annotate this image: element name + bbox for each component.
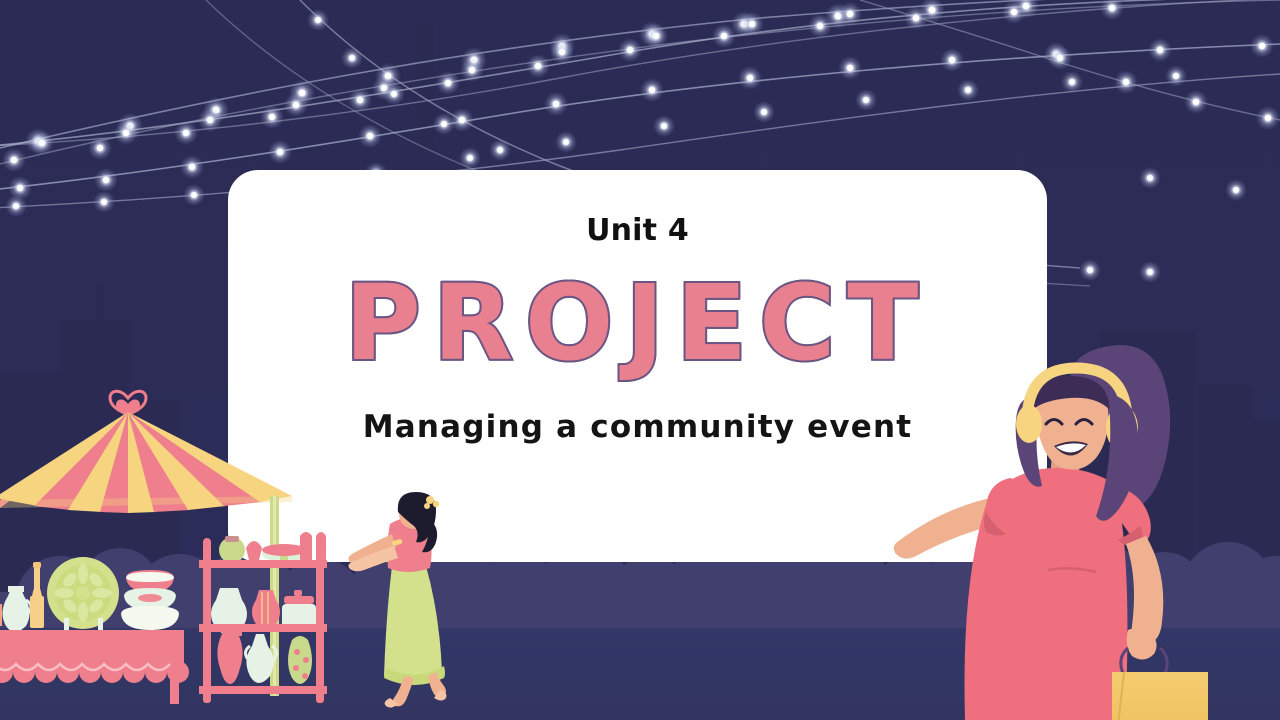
page-title: PROJECT <box>345 271 931 375</box>
unit-label: Unit 4 <box>586 216 689 246</box>
page-subtitle: Managing a community event <box>363 412 913 443</box>
title-card: Unit 4 PROJECT Managing a community even… <box>228 170 1047 562</box>
project-title-wrap: PROJECT <box>345 268 931 378</box>
ground <box>0 628 1280 720</box>
slide-canvas: Unit 4 PROJECT Managing a community even… <box>0 0 1280 720</box>
